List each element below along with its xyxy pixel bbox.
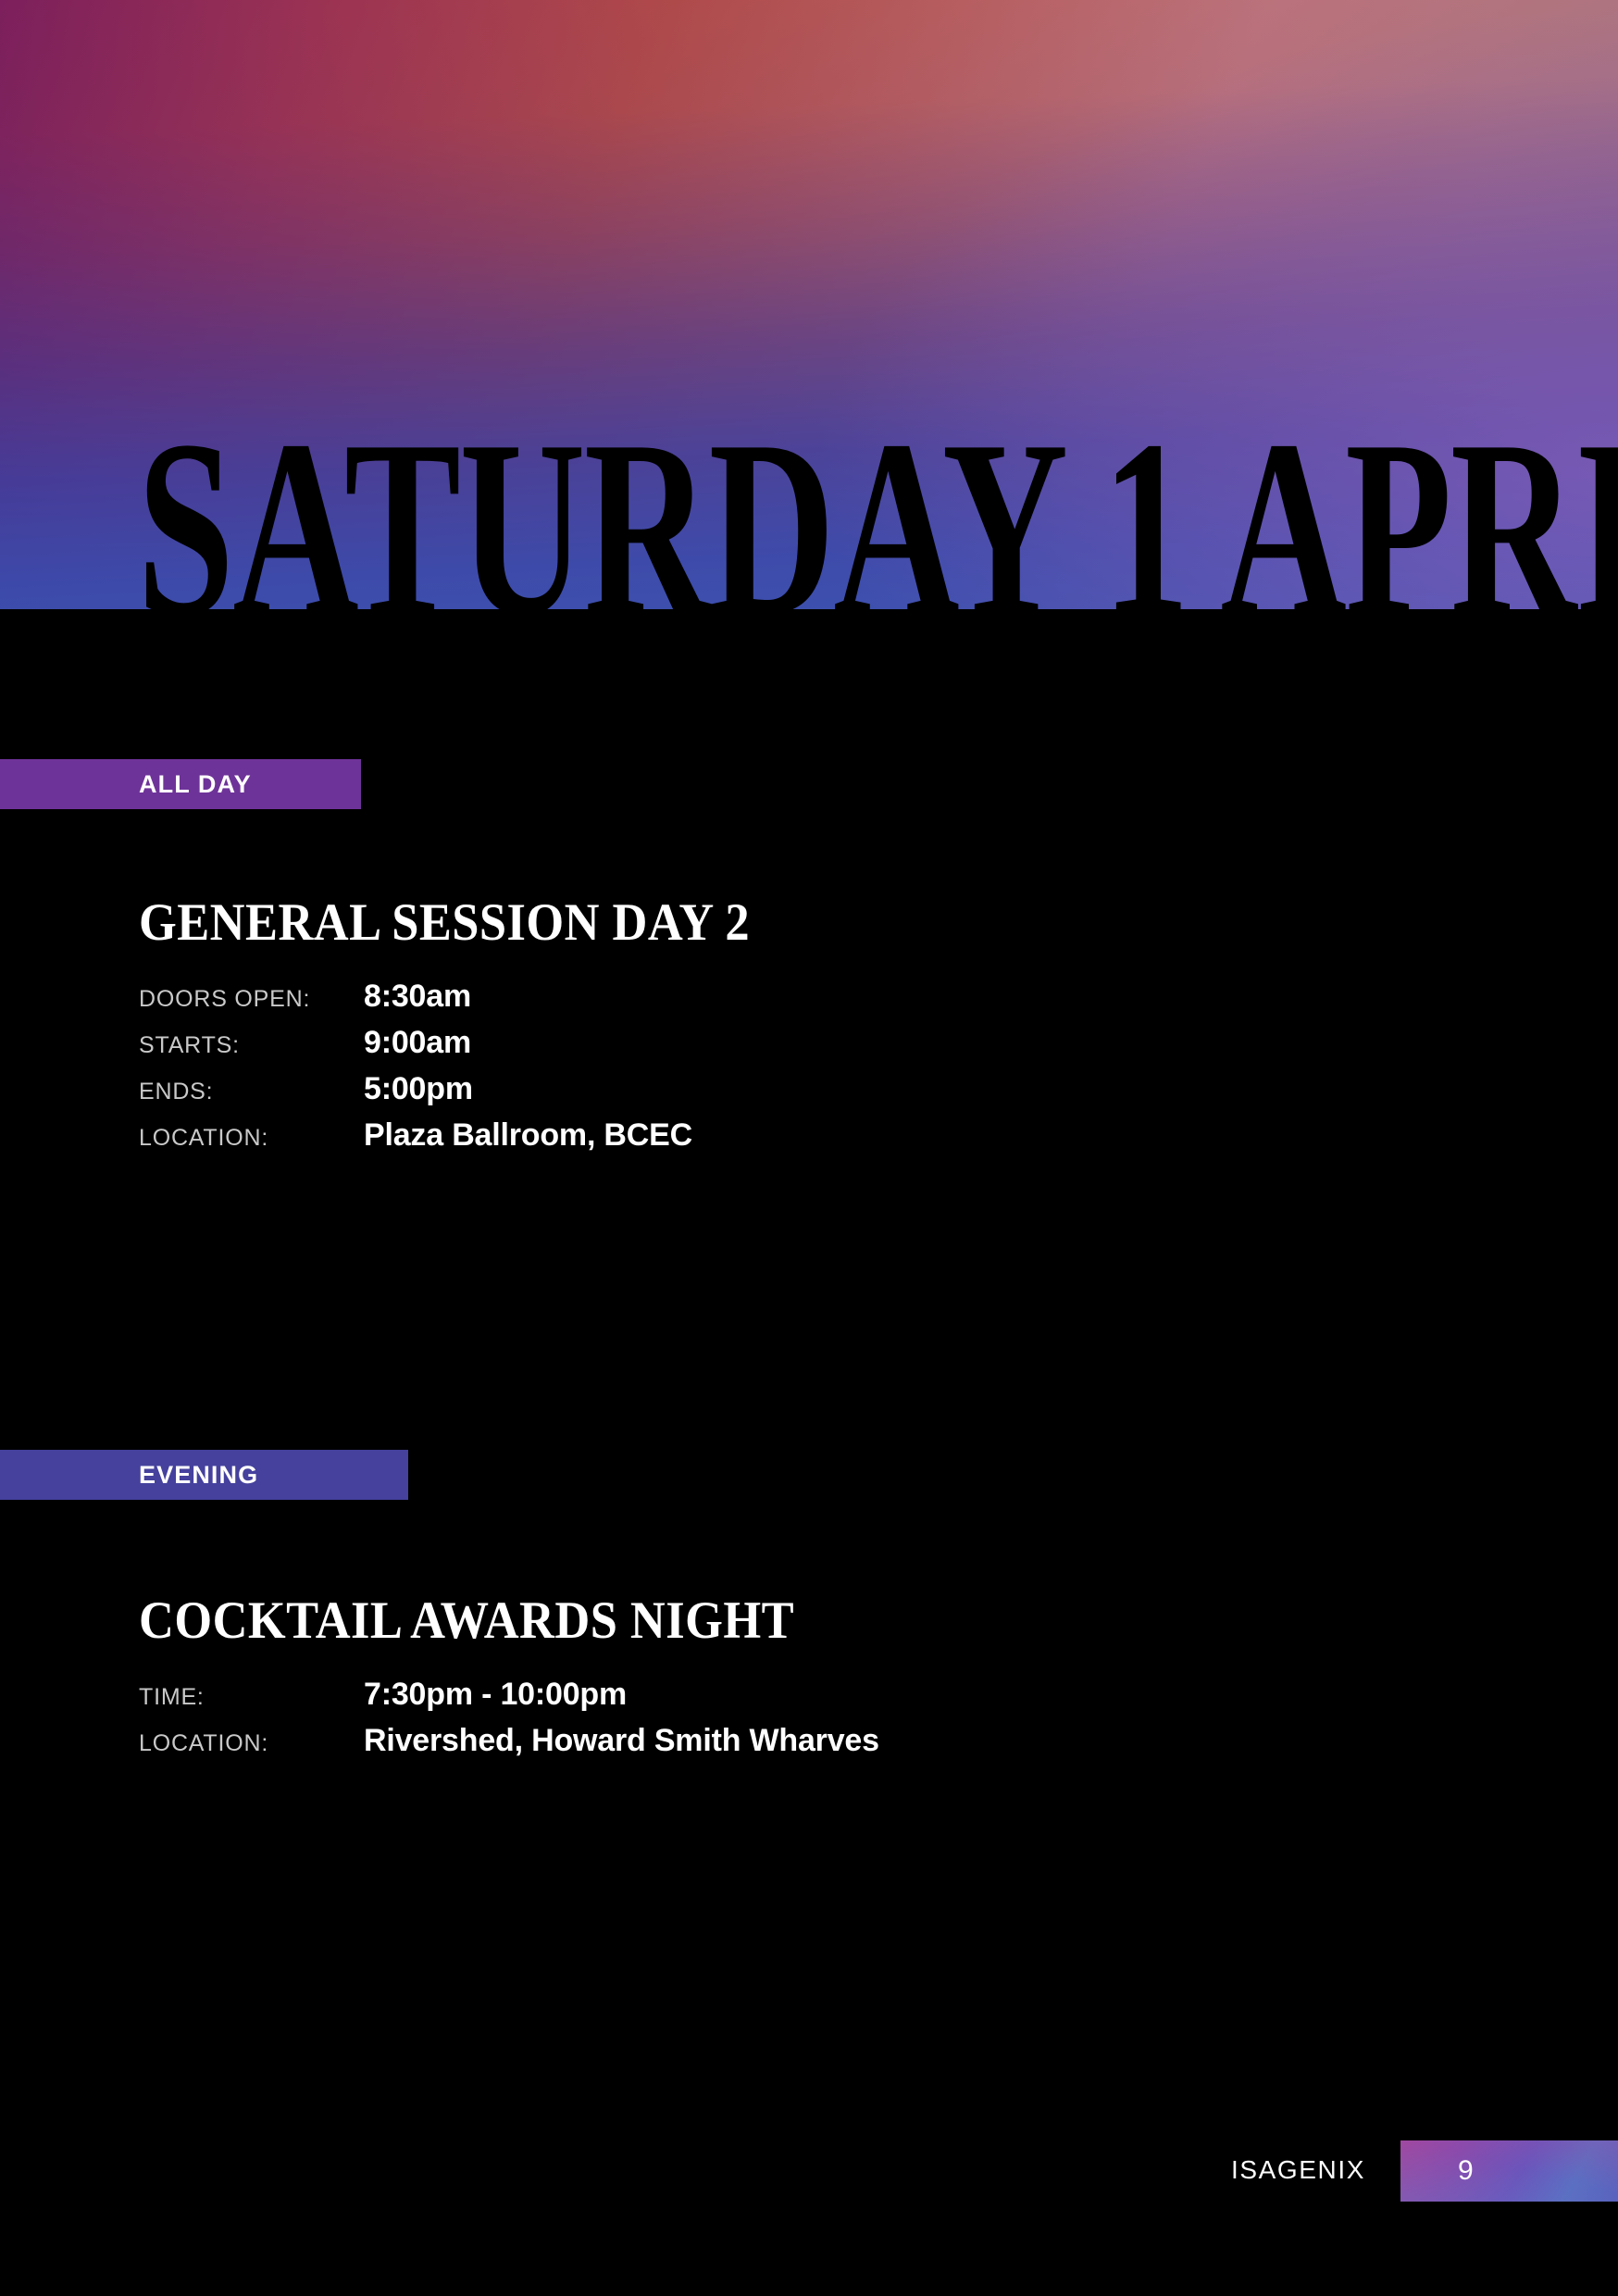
- brand-wordmark: ISAGENIX: [1231, 2155, 1365, 2185]
- detail-label: TIME:: [139, 1684, 364, 1711]
- detail-label: DOORS OPEN:: [139, 986, 364, 1013]
- section-badge-all-day: ALL DAY: [0, 759, 361, 809]
- detail-row: STARTS: 9:00am: [139, 1025, 803, 1071]
- event-detail-list: DOORS OPEN: 8:30am STARTS: 9:00am ENDS: …: [139, 979, 803, 1164]
- event-block-cocktail-awards: COCKTAIL AWARDS NIGHT TIME: 7:30pm - 10:…: [139, 1594, 879, 1769]
- detail-value: 7:30pm - 10:00pm: [364, 1677, 627, 1713]
- detail-value: 9:00am: [364, 1025, 471, 1061]
- event-title: COCKTAIL AWARDS NIGHT: [139, 1594, 820, 1647]
- event-title: GENERAL SESSION DAY 2: [139, 896, 750, 949]
- detail-row: LOCATION: Rivershed, Howard Smith Wharve…: [139, 1723, 879, 1769]
- section-badge-label: EVENING: [139, 1461, 258, 1490]
- detail-label: ENDS:: [139, 1079, 364, 1105]
- page-number-badge: 9: [1400, 2140, 1618, 2202]
- detail-value: Rivershed, Howard Smith Wharves: [364, 1723, 879, 1759]
- detail-row: DOORS OPEN: 8:30am: [139, 979, 803, 1025]
- event-detail-list: TIME: 7:30pm - 10:00pm LOCATION: Riversh…: [139, 1677, 879, 1769]
- detail-row: TIME: 7:30pm - 10:00pm: [139, 1677, 879, 1723]
- section-badge-evening: EVENING: [0, 1450, 408, 1500]
- event-block-general-session: GENERAL SESSION DAY 2 DOORS OPEN: 8:30am…: [139, 896, 803, 1164]
- detail-label: LOCATION:: [139, 1125, 364, 1152]
- detail-label: LOCATION:: [139, 1730, 364, 1757]
- detail-row: ENDS: 5:00pm: [139, 1071, 803, 1117]
- page-number: 9: [1458, 2155, 1474, 2187]
- detail-value: Plaza Ballroom, BCEC: [364, 1117, 692, 1154]
- page-footer: ISAGENIX 9: [0, 2140, 1618, 2202]
- detail-label: STARTS:: [139, 1032, 364, 1059]
- detail-value: 5:00pm: [364, 1071, 473, 1107]
- detail-row: LOCATION: Plaza Ballroom, BCEC: [139, 1117, 803, 1164]
- page-title: SATURDAY 1 APRIL: [137, 438, 1618, 609]
- section-badge-label: ALL DAY: [139, 770, 252, 799]
- hero-banner: SATURDAY 1 APRIL: [0, 0, 1618, 609]
- detail-value: 8:30am: [364, 979, 471, 1015]
